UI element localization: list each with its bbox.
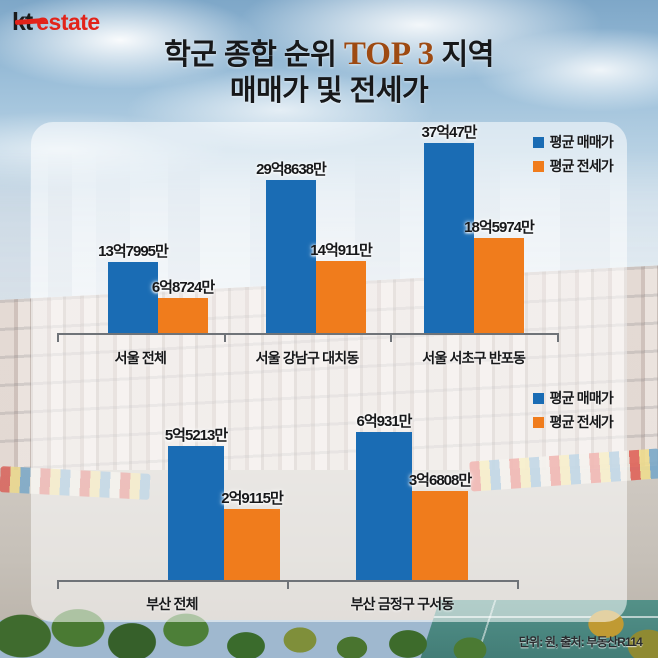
infographic-root: kt estate 학군 종합 순위 TOP 3 지역 매매가 및 전세가 평균…	[0, 0, 658, 658]
chart-busan: 평균 매매가 평균 전세가 5억5213만2억9115만부산 전체6억931만3…	[31, 378, 627, 610]
group-label: 서울 서초구 반포동	[422, 348, 525, 368]
bar-sale	[424, 143, 474, 333]
bar-sale	[108, 262, 158, 333]
logo-kt-text: kt	[12, 8, 32, 37]
bar-value-label: 13억7995만	[98, 240, 168, 261]
bar-value-label: 29억8638만	[256, 158, 326, 179]
bar-sale	[356, 432, 412, 580]
group-label: 부산 금정구 구서동	[351, 594, 454, 614]
title-accent-top3: TOP 3	[344, 36, 434, 72]
logo-estate-text: estate	[36, 9, 99, 36]
bar-value-label: 14억911만	[310, 239, 371, 260]
bar-sale	[266, 180, 316, 333]
chart-busan-plot: 5억5213만2억9115만부산 전체6억931만3억6808만부산 금정구 구…	[31, 378, 627, 610]
bar-jeonse	[158, 298, 208, 333]
title-prefix: 학군 종합 순위	[164, 39, 344, 71]
footnote-source: 단위: 원, 출처: 부동산R114	[519, 633, 642, 650]
chart-seoul-plot: 13억7995만6억8724만서울 전체29억8638만14억911만서울 강남…	[31, 122, 627, 367]
chart-axis-line	[57, 333, 557, 335]
bar-jeonse	[316, 261, 366, 333]
axis-tick	[224, 333, 226, 342]
axis-tick	[390, 333, 392, 342]
title-suffix: 지역	[434, 39, 494, 71]
bar-value-label: 37억47만	[422, 121, 477, 142]
title-line-1: 학군 종합 순위 TOP 3 지역	[0, 34, 658, 74]
bar-value-label: 6억8724만	[152, 276, 214, 297]
group-label: 서울 전체	[115, 348, 166, 368]
bar-value-label: 5억5213만	[165, 424, 227, 445]
axis-tick	[57, 580, 59, 589]
kt-estate-logo: kt estate	[12, 8, 100, 37]
chart-seoul: 평균 매매가 평균 전세가 13억7995만6억8724만서울 전체29억863…	[31, 122, 627, 367]
page-title: 학군 종합 순위 TOP 3 지역 매매가 및 전세가	[0, 34, 658, 110]
bar-value-label: 2억9115만	[221, 487, 282, 508]
title-line-2: 매매가 및 전세가	[0, 74, 658, 109]
axis-tick	[517, 580, 519, 589]
axis-tick	[57, 333, 59, 342]
bar-value-label: 18억5974만	[464, 216, 534, 237]
bar-jeonse	[224, 509, 280, 580]
axis-tick	[287, 580, 289, 589]
group-label: 부산 전체	[146, 594, 197, 614]
bar-value-label: 6억931만	[357, 410, 412, 431]
bar-value-label: 3억6808만	[409, 469, 471, 490]
bar-jeonse	[474, 238, 524, 333]
bar-sale	[168, 446, 224, 580]
axis-tick	[557, 333, 559, 342]
bar-jeonse	[412, 491, 468, 580]
group-label: 서울 강남구 대치동	[256, 348, 359, 368]
